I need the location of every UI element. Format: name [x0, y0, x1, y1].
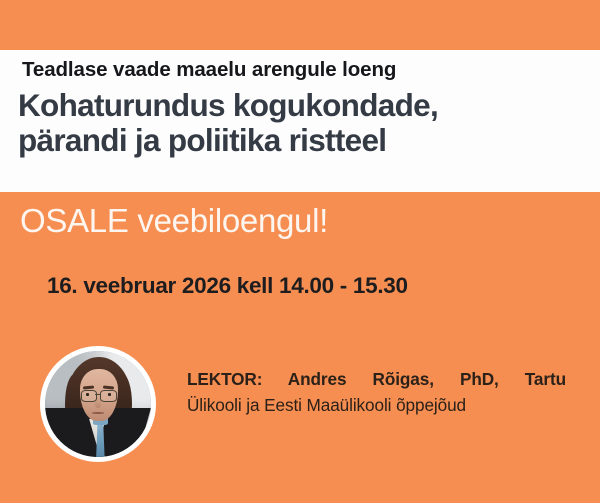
lecture-announcement-poster: Teadlase vaade maaelu arengule loeng Koh…	[0, 0, 600, 503]
eye-right	[108, 393, 112, 396]
title-band: Teadlase vaade maaelu arengule loeng Koh…	[0, 50, 600, 192]
call-to-action-text: OSALE veebiloengul!	[20, 201, 328, 240]
lecturer-info: LEKTOR: Andres Rõigas, PhD, Tartu Ülikoo…	[187, 366, 566, 418]
lecturer-name-line: LEKTOR: Andres Rõigas, PhD, Tartu	[187, 366, 566, 392]
portrait-photo	[45, 351, 151, 457]
eyeglasses-bridge	[95, 394, 101, 395]
kicker-text: Teadlase vaade maaelu arengule loeng	[22, 58, 396, 82]
page-title-line-2: pärandi ja poliitika ristteel	[18, 123, 593, 158]
avatar	[40, 346, 156, 462]
lecturer-affiliation-line: Ülikooli ja Eesti Maaülikooli õppejõud	[187, 392, 566, 418]
nose	[95, 399, 101, 409]
event-datetime: 16. veebruar 2026 kell 14.00 - 15.30	[47, 272, 408, 299]
mouth	[92, 412, 105, 414]
eyeglasses-lens-left	[81, 390, 97, 402]
page-title-line-1: Kohaturundus kogukondade,	[18, 88, 593, 123]
page-title: Kohaturundus kogukondade, pärandi ja pol…	[18, 88, 593, 158]
